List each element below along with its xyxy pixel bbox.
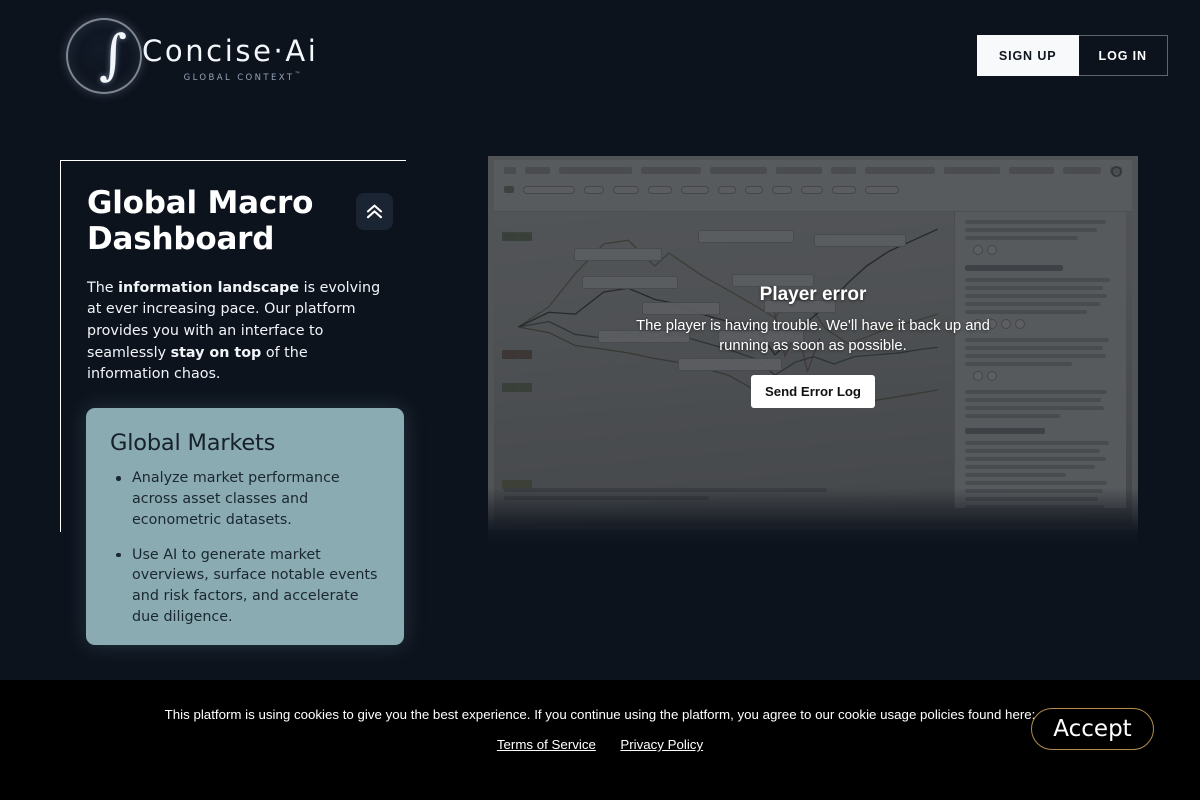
video-player[interactable]: Player error The player is having troubl… xyxy=(488,156,1138,544)
player-error-title: Player error xyxy=(512,284,1114,306)
logo-wordmark: Concise·Ai GLOBAL CONTEXT™ xyxy=(142,30,318,83)
player-error-message: The player is having trouble. We'll have… xyxy=(613,316,1013,357)
accept-cookies-button[interactable]: Accept xyxy=(1031,708,1154,750)
player-error-overlay: Player error The player is having troubl… xyxy=(488,284,1138,408)
double-chevron-up-icon xyxy=(365,203,384,220)
page-title: Global Macro Dashboard xyxy=(87,185,325,258)
list-item: Use AI to generate market overviews, sur… xyxy=(110,545,382,628)
cookie-links: Terms of Service Privacy Policy xyxy=(0,736,1200,754)
sign-up-button[interactable]: SIGN UP xyxy=(977,35,1079,76)
card-title: Global Markets xyxy=(110,430,382,456)
intro-paragraph: The information landscape is evolving at… xyxy=(87,278,383,387)
collapse-panel-button[interactable] xyxy=(356,193,393,230)
brand-tagline: GLOBAL CONTEXT™ xyxy=(142,71,318,83)
poster-toolbar-row xyxy=(504,186,1122,194)
global-markets-card: Global Markets Analyze market performanc… xyxy=(86,408,404,645)
lead-bold-1: information landscape xyxy=(118,280,299,296)
privacy-policy-link[interactable]: Privacy Policy xyxy=(620,737,703,752)
brand-logo[interactable]: ∫ Concise·Ai GLOBAL CONTEXT™ xyxy=(62,12,362,100)
list-item: Analyze market performance across asset … xyxy=(110,468,382,531)
poster-toolbar-row xyxy=(504,167,1122,174)
gear-icon[interactable] xyxy=(1111,166,1122,177)
send-error-log-button[interactable]: Send Error Log xyxy=(751,375,875,408)
title-row: Global Macro Dashboard xyxy=(87,185,407,258)
terms-of-service-link[interactable]: Terms of Service xyxy=(497,737,596,752)
lead-part-1: The xyxy=(87,280,118,296)
brand-tagline-text: GLOBAL CONTEXT xyxy=(184,72,295,82)
integral-sign-icon: ∫ xyxy=(62,14,146,98)
trademark-symbol: ™ xyxy=(294,71,302,78)
site-header: ∫ Concise·Ai GLOBAL CONTEXT™ SIGN UP LOG… xyxy=(0,0,1200,112)
poster-toolbar xyxy=(494,160,1132,212)
logo-mark: ∫ xyxy=(62,14,146,98)
auth-button-group: SIGN UP LOG IN xyxy=(977,35,1168,76)
cookie-message: This platform is using cookies to give y… xyxy=(0,707,1200,722)
card-bullet-list: Analyze market performance across asset … xyxy=(110,468,382,628)
cookie-consent-banner: This platform is using cookies to give y… xyxy=(0,680,1200,800)
log-in-button[interactable]: LOG IN xyxy=(1079,35,1168,76)
brand-name: Concise·Ai xyxy=(142,34,318,68)
poster-footnotes xyxy=(504,488,834,504)
lead-bold-2: stay on top xyxy=(171,345,262,361)
intro-panel-inner: Global Macro Dashboard The information l… xyxy=(61,161,407,386)
